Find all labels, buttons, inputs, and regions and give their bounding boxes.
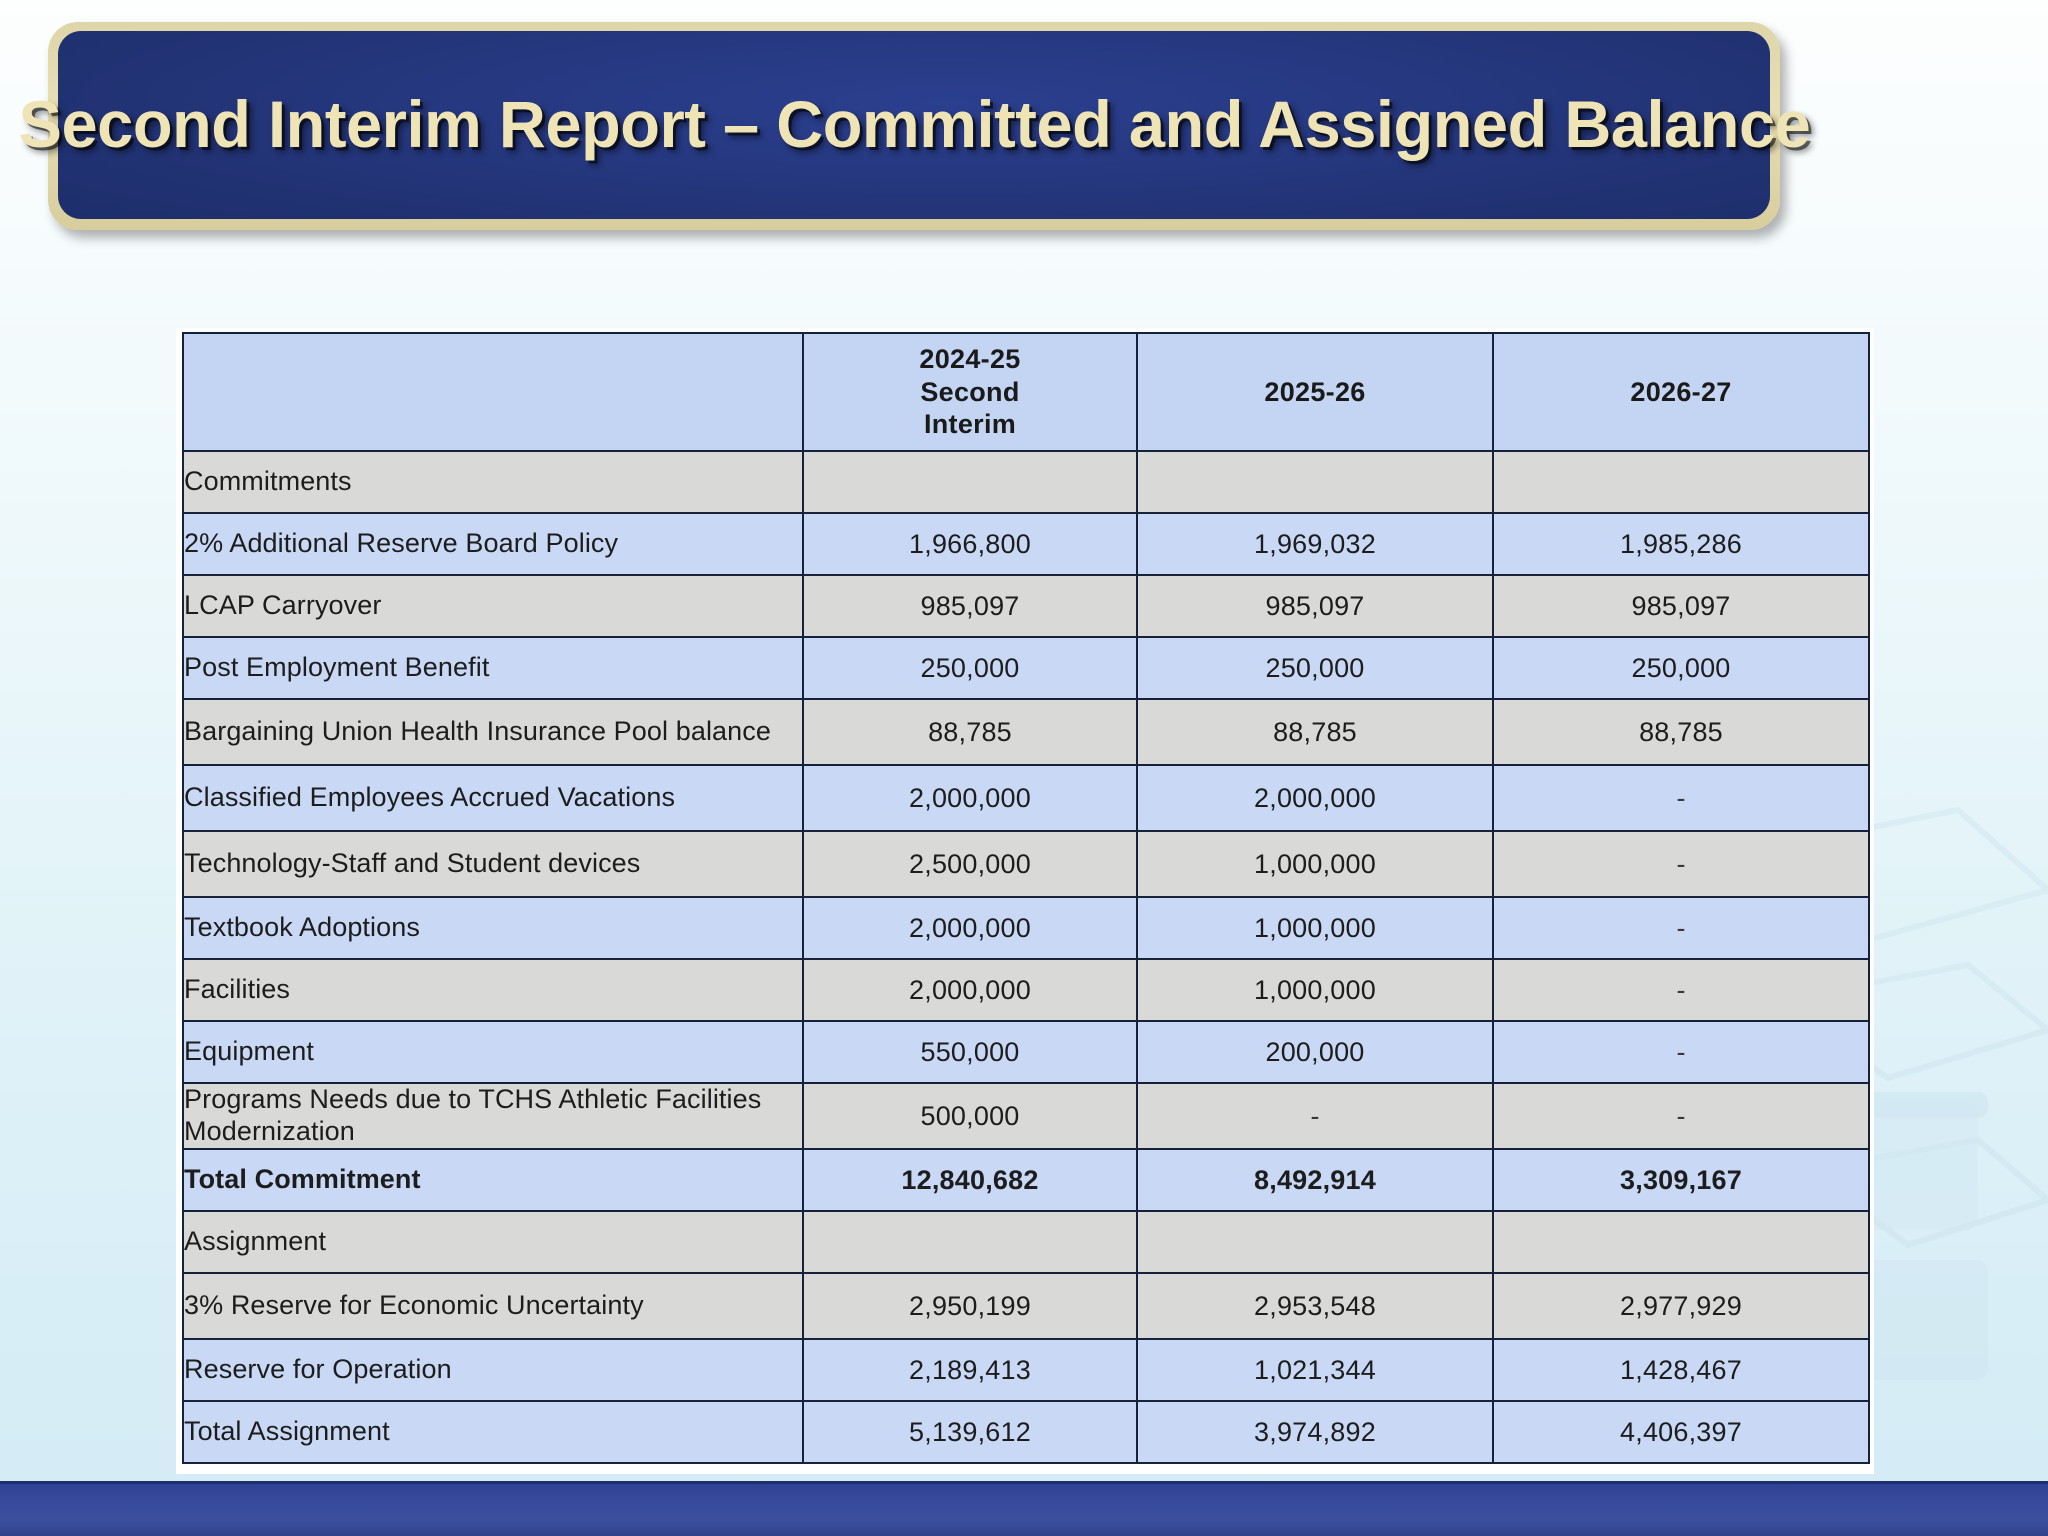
slide-title-inner: Second Interim Report – Committed and As… <box>58 31 1770 219</box>
row-value-col3: - <box>1493 1083 1869 1149</box>
table-row: Post Employment Benefit250,000250,000250… <box>183 637 1869 699</box>
row-value-col1 <box>803 451 1137 513</box>
row-value-col2: 1,000,000 <box>1137 959 1493 1021</box>
table-header: 2024-25 Second Interim 2025-26 2026-27 <box>183 333 1869 451</box>
table-row: Assignment <box>183 1211 1869 1273</box>
row-value-col3: 88,785 <box>1493 699 1869 765</box>
slide-title-plate: Second Interim Report – Committed and As… <box>48 22 1780 230</box>
table-row: Technology-Staff and Student devices2,50… <box>183 831 1869 897</box>
row-label: LCAP Carryover <box>183 575 803 637</box>
row-label: Total Commitment <box>183 1149 803 1211</box>
table-row: Reserve for Operation2,189,4131,021,3441… <box>183 1339 1869 1401</box>
row-value-col3: - <box>1493 765 1869 831</box>
row-value-col1: 2,000,000 <box>803 959 1137 1021</box>
header-year-line2: Second <box>920 377 1019 407</box>
table-row: Bargaining Union Health Insurance Pool b… <box>183 699 1869 765</box>
row-value-col3: 2,977,929 <box>1493 1273 1869 1339</box>
header-year-line3: Interim <box>924 409 1016 439</box>
column-header-2026-27: 2026-27 <box>1493 333 1869 451</box>
row-value-col1: 2,000,000 <box>803 765 1137 831</box>
row-label: Bargaining Union Health Insurance Pool b… <box>183 699 803 765</box>
committed-and-assigned-balance-table: 2024-25 Second Interim 2025-26 2026-27 C… <box>182 332 1870 1464</box>
table-row: Total Commitment12,840,6828,492,9143,309… <box>183 1149 1869 1211</box>
table-row: Total Assignment5,139,6123,974,8924,406,… <box>183 1401 1869 1463</box>
row-value-col1: 2,189,413 <box>803 1339 1137 1401</box>
row-value-col1: 12,840,682 <box>803 1149 1137 1211</box>
row-label: Technology-Staff and Student devices <box>183 831 803 897</box>
row-value-col2 <box>1137 451 1493 513</box>
row-value-col1: 250,000 <box>803 637 1137 699</box>
row-value-col2: 250,000 <box>1137 637 1493 699</box>
row-label: Reserve for Operation <box>183 1339 803 1401</box>
row-value-col1: 5,139,612 <box>803 1401 1137 1463</box>
row-value-col2: 1,969,032 <box>1137 513 1493 575</box>
table-body: Commitments2% Additional Reserve Board P… <box>183 451 1869 1463</box>
row-value-col1 <box>803 1211 1137 1273</box>
column-header-label <box>183 333 803 451</box>
row-label: Post Employment Benefit <box>183 637 803 699</box>
row-label: Textbook Adoptions <box>183 897 803 959</box>
row-value-col2: 1,000,000 <box>1137 897 1493 959</box>
row-value-col3: - <box>1493 959 1869 1021</box>
header-year-line1: 2024-25 <box>919 344 1020 374</box>
row-label: Assignment <box>183 1211 803 1273</box>
row-value-col1: 88,785 <box>803 699 1137 765</box>
row-value-col1: 550,000 <box>803 1021 1137 1083</box>
row-value-col3: 1,985,286 <box>1493 513 1869 575</box>
row-value-col1: 2,950,199 <box>803 1273 1137 1339</box>
row-value-col3: 1,428,467 <box>1493 1339 1869 1401</box>
row-value-col2: 3,974,892 <box>1137 1401 1493 1463</box>
table-header-row: 2024-25 Second Interim 2025-26 2026-27 <box>183 333 1869 451</box>
row-value-col2: 985,097 <box>1137 575 1493 637</box>
column-header-2025-26: 2025-26 <box>1137 333 1493 451</box>
table-row: 3% Reserve for Economic Uncertainty2,950… <box>183 1273 1869 1339</box>
table-row: LCAP Carryover985,097985,097985,097 <box>183 575 1869 637</box>
row-value-col2: - <box>1137 1083 1493 1149</box>
row-value-col2: 88,785 <box>1137 699 1493 765</box>
table-row: Programs Needs due to TCHS Athletic Faci… <box>183 1083 1869 1149</box>
row-value-col3 <box>1493 1211 1869 1273</box>
row-value-col3 <box>1493 451 1869 513</box>
row-label: Classified Employees Accrued Vacations <box>183 765 803 831</box>
row-value-col2: 2,953,548 <box>1137 1273 1493 1339</box>
table-row: 2% Additional Reserve Board Policy1,966,… <box>183 513 1869 575</box>
row-value-col2: 200,000 <box>1137 1021 1493 1083</box>
row-label: Facilities <box>183 959 803 1021</box>
row-value-col2: 2,000,000 <box>1137 765 1493 831</box>
row-value-col1: 2,500,000 <box>803 831 1137 897</box>
row-value-col3: - <box>1493 831 1869 897</box>
row-label: Total Assignment <box>183 1401 803 1463</box>
row-label: Programs Needs due to TCHS Athletic Faci… <box>183 1083 803 1149</box>
row-value-col3: 250,000 <box>1493 637 1869 699</box>
row-value-col2: 1,021,344 <box>1137 1339 1493 1401</box>
row-value-col3: - <box>1493 1021 1869 1083</box>
table-row: Textbook Adoptions2,000,0001,000,000- <box>183 897 1869 959</box>
table-row: Commitments <box>183 451 1869 513</box>
row-value-col2 <box>1137 1211 1493 1273</box>
table-row: Classified Employees Accrued Vacations2,… <box>183 765 1869 831</box>
row-label: 3% Reserve for Economic Uncertainty <box>183 1273 803 1339</box>
row-value-col3: 4,406,397 <box>1493 1401 1869 1463</box>
row-value-col2: 1,000,000 <box>1137 831 1493 897</box>
row-value-col1: 985,097 <box>803 575 1137 637</box>
slide-bottom-band <box>0 1481 2048 1536</box>
row-value-col1: 500,000 <box>803 1083 1137 1149</box>
row-value-col3: 985,097 <box>1493 575 1869 637</box>
row-value-col2: 8,492,914 <box>1137 1149 1493 1211</box>
slide-canvas: Second Interim Report – Committed and As… <box>0 0 2048 1536</box>
column-header-2024-25: 2024-25 Second Interim <box>803 333 1137 451</box>
page-title: Second Interim Report – Committed and As… <box>18 90 1810 159</box>
row-value-col1: 1,966,800 <box>803 513 1137 575</box>
row-value-col1: 2,000,000 <box>803 897 1137 959</box>
table-row: Equipment550,000200,000- <box>183 1021 1869 1083</box>
table-row: Facilities2,000,0001,000,000- <box>183 959 1869 1021</box>
row-label: 2% Additional Reserve Board Policy <box>183 513 803 575</box>
row-value-col3: 3,309,167 <box>1493 1149 1869 1211</box>
row-value-col3: - <box>1493 897 1869 959</box>
row-label: Equipment <box>183 1021 803 1083</box>
row-label: Commitments <box>183 451 803 513</box>
financial-table-frame: 2024-25 Second Interim 2025-26 2026-27 C… <box>176 328 1874 1474</box>
